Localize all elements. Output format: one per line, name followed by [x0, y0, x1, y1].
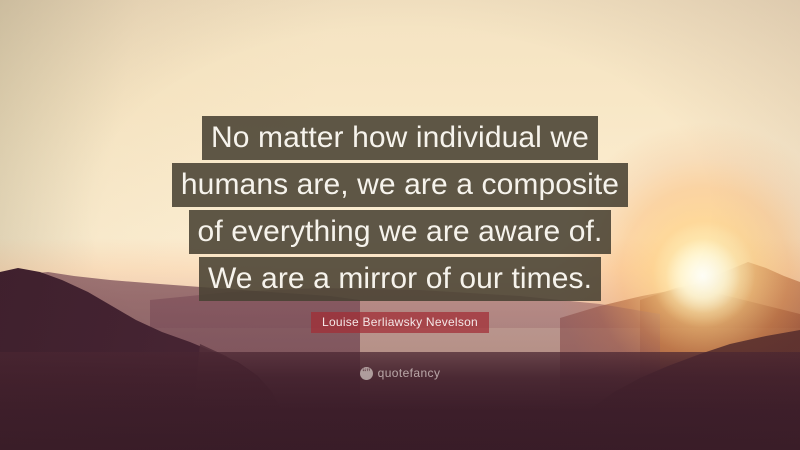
quote-line: We are a mirror of our times.	[199, 257, 601, 301]
author-attribution: Louise Berliawsky Nevelson	[0, 312, 800, 333]
author-name: Louise Berliawsky Nevelson	[311, 312, 489, 333]
quote-text-block: No matter how individual we humans are, …	[0, 116, 800, 301]
quote-line: No matter how individual we	[202, 116, 598, 160]
quotefancy-logo-icon: “”	[360, 367, 373, 380]
quote-line: of everything we are aware of.	[189, 210, 612, 254]
watermark-brand-text: quotefancy	[378, 367, 441, 380]
quote-line: humans are, we are a composite	[172, 163, 628, 207]
quote-image-canvas: No matter how individual we humans are, …	[0, 0, 800, 450]
watermark[interactable]: “” quotefancy	[0, 367, 800, 380]
quotefancy-logo-glyph: “”	[362, 368, 370, 377]
